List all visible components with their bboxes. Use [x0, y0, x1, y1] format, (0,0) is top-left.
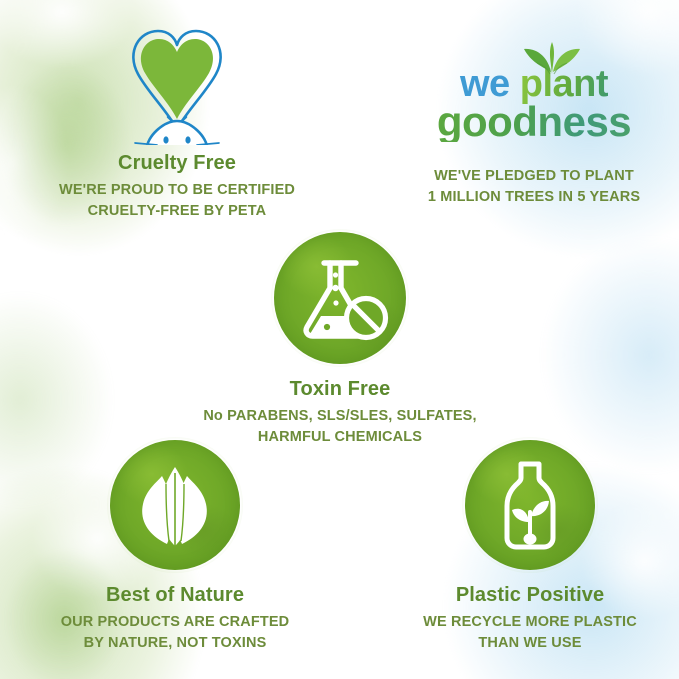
- badge-subtitle-best-of-nature: OUR PRODUCTS ARE CRAFTED BY NATURE, NOT …: [30, 612, 320, 653]
- best-of-nature-blob: [110, 440, 240, 570]
- leaf-sprig-icon: [521, 36, 583, 76]
- badge-title-plastic-positive: Plastic Positive: [385, 584, 675, 607]
- badge-title-best-of-nature: Best of Nature: [30, 584, 320, 607]
- badge-cruelty-free: Cruelty Free WE'RE PROUD TO BE CERTIFIED…: [32, 14, 322, 221]
- badge-subtitle-line: WE RECYCLE MORE PLASTIC: [385, 612, 675, 633]
- badge-subtitle-line: WE'VE PLEDGED TO PLANT: [392, 166, 676, 187]
- logo-word-goodness: goodness: [437, 102, 631, 142]
- badge-title-toxin-free: Toxin Free: [185, 378, 495, 401]
- badge-toxin-free: Toxin Free No PARABENS, SLS/SLES, SULFAT…: [185, 232, 495, 447]
- badge-subtitle-cruelty-free: WE'RE PROUD TO BE CERTIFIED CRUELTY-FREE…: [32, 180, 322, 221]
- badge-best-of-nature: Best of Nature OUR PRODUCTS ARE CRAFTED …: [30, 440, 320, 653]
- peta-cruelty-free-bunny-icon: [113, 17, 241, 150]
- badge-subtitle-line: THAN WE USE: [385, 633, 675, 654]
- infographic-canvas: Cruelty Free WE'RE PROUD TO BE CERTIFIED…: [0, 0, 679, 679]
- badge-subtitle-we-plant-goodness: WE'VE PLEDGED TO PLANT 1 MILLION TREES I…: [392, 166, 676, 207]
- toxin-free-blob: [274, 232, 406, 364]
- badge-subtitle-line: OUR PRODUCTS ARE CRAFTED: [30, 612, 320, 633]
- badge-we-plant-goodness: we plant goodness WE'VE PLEDGED TO PLANT…: [392, 52, 676, 207]
- badge-subtitle-line: CRUELTY-FREE BY PETA: [32, 201, 322, 222]
- badge-subtitle-line: BY NATURE, NOT TOXINS: [30, 633, 320, 654]
- we-plant-goodness-logo-slot: we plant goodness: [392, 52, 676, 142]
- badge-subtitle-line: WE'RE PROUD TO BE CERTIFIED: [32, 180, 322, 201]
- badge-plastic-positive: Plastic Positive WE RECYCLE MORE PLASTIC…: [385, 440, 675, 653]
- badge-subtitle-line: No PARABENS, SLS/SLES, SULFATES,: [185, 406, 495, 427]
- badge-subtitle-line: 1 MILLION TREES IN 5 YEARS: [392, 187, 676, 208]
- plastic-positive-blob: [465, 440, 595, 570]
- cruelty-free-logo-slot: [32, 14, 322, 152]
- badge-subtitle-plastic-positive: WE RECYCLE MORE PLASTIC THAN WE USE: [385, 612, 675, 653]
- we-plant-goodness-logo: we plant goodness: [437, 66, 631, 142]
- badge-title-cruelty-free: Cruelty Free: [32, 152, 322, 175]
